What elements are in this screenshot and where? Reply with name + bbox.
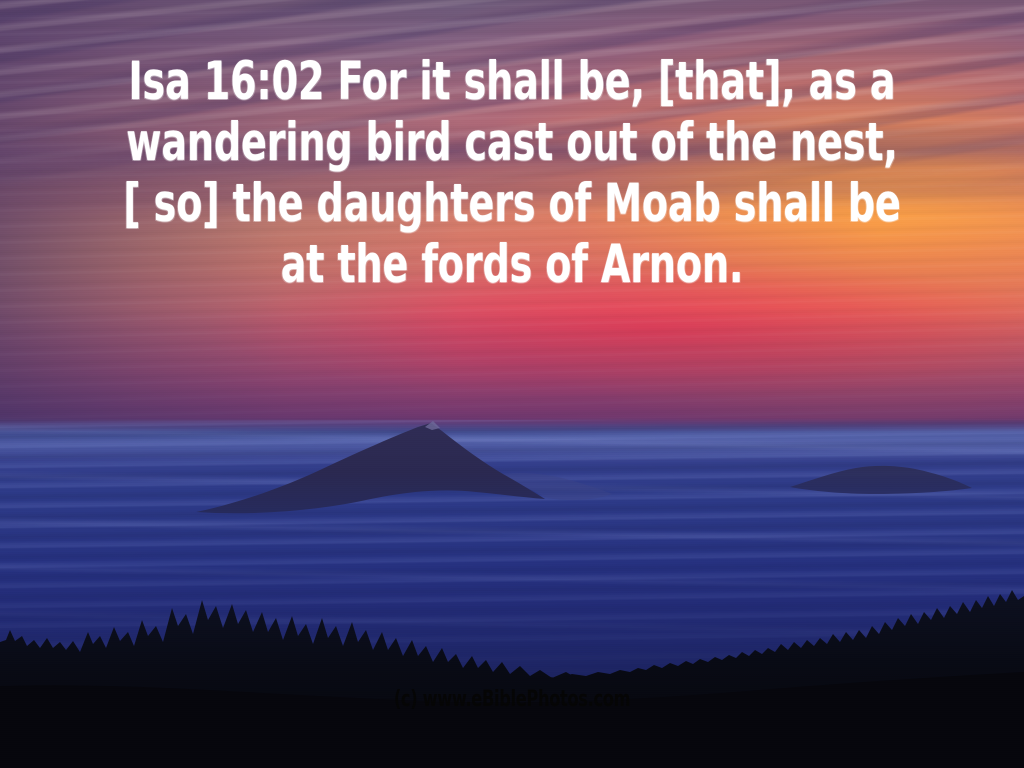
verse-text: Isa 16:02 For it shall be, [that], as a … [102,51,921,295]
mountain-peak-icon [196,421,612,513]
watermark-credit: (c) www.eBiblePhotos.com [92,689,932,711]
distant-ridge-icon [790,466,972,494]
verse-image-canvas: Isa 16:02 For it shall be, [that], as a … [0,0,1024,768]
